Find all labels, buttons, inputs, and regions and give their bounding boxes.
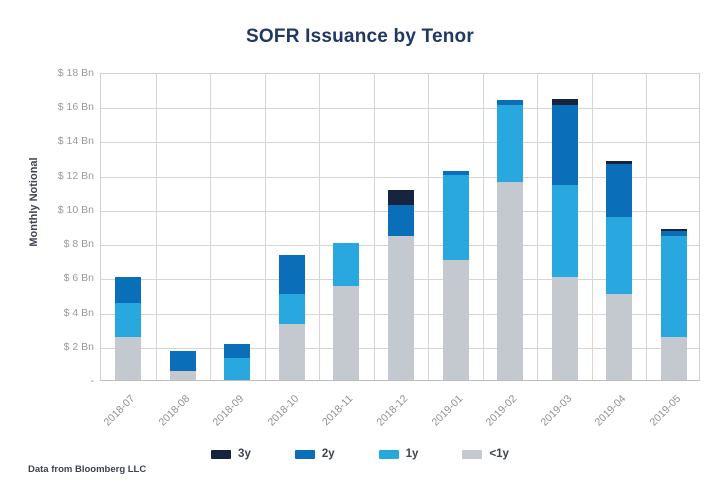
x-axis-tick-label: 2018-12: [366, 393, 410, 437]
gridline-vertical: [646, 74, 647, 380]
gridline-horizontal: [101, 108, 699, 109]
bar-segment-1y: [497, 105, 523, 182]
bar-segment-2y: [661, 231, 687, 236]
bar-2019-05[interactable]: [661, 229, 687, 380]
bar-segment-lt1y: [661, 337, 687, 380]
page-title: SOFR Issuance by Tenor: [0, 26, 720, 48]
gridline-vertical: [374, 74, 375, 380]
gridline-vertical: [483, 74, 484, 380]
x-axis-tick-label: 2018-11: [312, 393, 356, 437]
bar-segment-lt1y: [552, 277, 578, 380]
bar-2019-04[interactable]: [606, 161, 632, 380]
gridline-vertical: [428, 74, 429, 380]
bar-segment-2y: [279, 255, 305, 294]
bar-2019-03[interactable]: [552, 99, 578, 380]
gridline-horizontal: [101, 142, 699, 143]
y-axis-tick-label: -: [38, 375, 94, 387]
bar-segment-lt1y: [115, 337, 141, 380]
legend-swatch-icon: [462, 450, 482, 459]
source-note: Data from Bloomberg LLC: [28, 464, 146, 475]
legend-item-3y[interactable]: 3y: [211, 448, 251, 460]
x-axis-tick-label: 2019-04: [585, 393, 629, 437]
bar-2019-01[interactable]: [443, 171, 469, 380]
y-axis-tick-label: $ 8 Bn: [38, 238, 94, 250]
legend-label: <1y: [489, 448, 509, 460]
y-axis-tick-label: $ 6 Bn: [38, 272, 94, 284]
x-axis-tick-label: 2019-02: [475, 393, 519, 437]
x-axis-tick-label: 2019-03: [530, 393, 574, 437]
bar-segment-1y: [115, 303, 141, 337]
bar-2018-07[interactable]: [115, 277, 141, 380]
bar-segment-1y: [279, 294, 305, 323]
bar-segment-2y: [497, 100, 523, 104]
legend-swatch-icon: [379, 450, 399, 459]
legend-swatch-icon: [295, 450, 315, 459]
bar-2018-10[interactable]: [279, 255, 305, 380]
y-axis-tick-label: $ 16 Bn: [38, 101, 94, 113]
bar-segment-lt1y: [606, 294, 632, 380]
y-axis-tick-label: $ 14 Bn: [38, 135, 94, 147]
y-axis-tick-label: $ 18 Bn: [38, 67, 94, 79]
bar-segment-2y: [606, 164, 632, 217]
legend-item-1y[interactable]: 1y: [379, 448, 419, 460]
bar-segment-3y: [661, 229, 687, 231]
bar-segment-1y: [661, 236, 687, 337]
gridline-vertical: [210, 74, 211, 380]
bar-segment-lt1y: [279, 324, 305, 380]
bar-2018-09[interactable]: [224, 344, 250, 380]
chart-legend: 3y2y1y<1y: [0, 448, 720, 460]
gridline-vertical: [592, 74, 593, 380]
legend-item-2y[interactable]: 2y: [295, 448, 335, 460]
bar-2019-02[interactable]: [497, 100, 523, 380]
y-axis-tick-labels: $ 18 Bn$ 16 Bn$ 14 Bn$ 12 Bn$ 10 Bn$ 8 B…: [34, 0, 94, 500]
bar-segment-1y: [552, 185, 578, 277]
y-axis-tick-label: $ 2 Bn: [38, 341, 94, 353]
bar-segment-3y: [388, 190, 414, 205]
gridline-vertical: [319, 74, 320, 380]
bar-segment-1y: [606, 217, 632, 294]
bar-segment-lt1y: [443, 260, 469, 380]
legend-item-lt1y[interactable]: <1y: [462, 448, 509, 460]
x-axis-tick-label: 2018-10: [257, 393, 301, 437]
x-axis-tick-label: 2019-01: [421, 393, 465, 437]
chart-root: SOFR Issuance by Tenor Monthly Notional …: [0, 0, 720, 500]
bar-segment-3y: [606, 161, 632, 164]
bar-2018-11[interactable]: [333, 243, 359, 380]
bar-segment-2y: [388, 205, 414, 236]
x-axis-tick-label: 2018-09: [203, 393, 247, 437]
legend-label: 1y: [406, 448, 419, 460]
y-axis-tick-label: $ 4 Bn: [38, 307, 94, 319]
bar-segment-1y: [333, 243, 359, 286]
bar-2018-08[interactable]: [170, 351, 196, 380]
bar-segment-2y: [115, 277, 141, 303]
bar-segment-1y: [443, 175, 469, 261]
bar-segment-lt1y: [333, 286, 359, 380]
x-axis-tick-label: 2019-05: [639, 393, 683, 437]
bar-segment-2y: [170, 351, 196, 372]
bar-segment-2y: [224, 344, 250, 358]
bar-segment-1y: [224, 358, 250, 380]
legend-label: 3y: [238, 448, 251, 460]
gridline-vertical: [156, 74, 157, 380]
bar-segment-2y: [552, 105, 578, 185]
bar-segment-3y: [552, 99, 578, 104]
bar-segment-lt1y: [170, 371, 196, 380]
y-axis-tick-label: $ 12 Bn: [38, 170, 94, 182]
x-axis-tick-label: 2018-07: [94, 393, 138, 437]
plot-area: [100, 73, 700, 381]
y-axis-tick-label: $ 10 Bn: [38, 204, 94, 216]
bar-segment-2y: [443, 171, 469, 174]
legend-label: 2y: [322, 448, 335, 460]
bar-segment-lt1y: [497, 182, 523, 380]
legend-swatch-icon: [211, 450, 231, 459]
gridline-vertical: [537, 74, 538, 380]
bar-segment-lt1y: [388, 236, 414, 380]
x-axis-tick-label: 2018-08: [148, 393, 192, 437]
gridline-vertical: [265, 74, 266, 380]
bar-2018-12[interactable]: [388, 190, 414, 380]
